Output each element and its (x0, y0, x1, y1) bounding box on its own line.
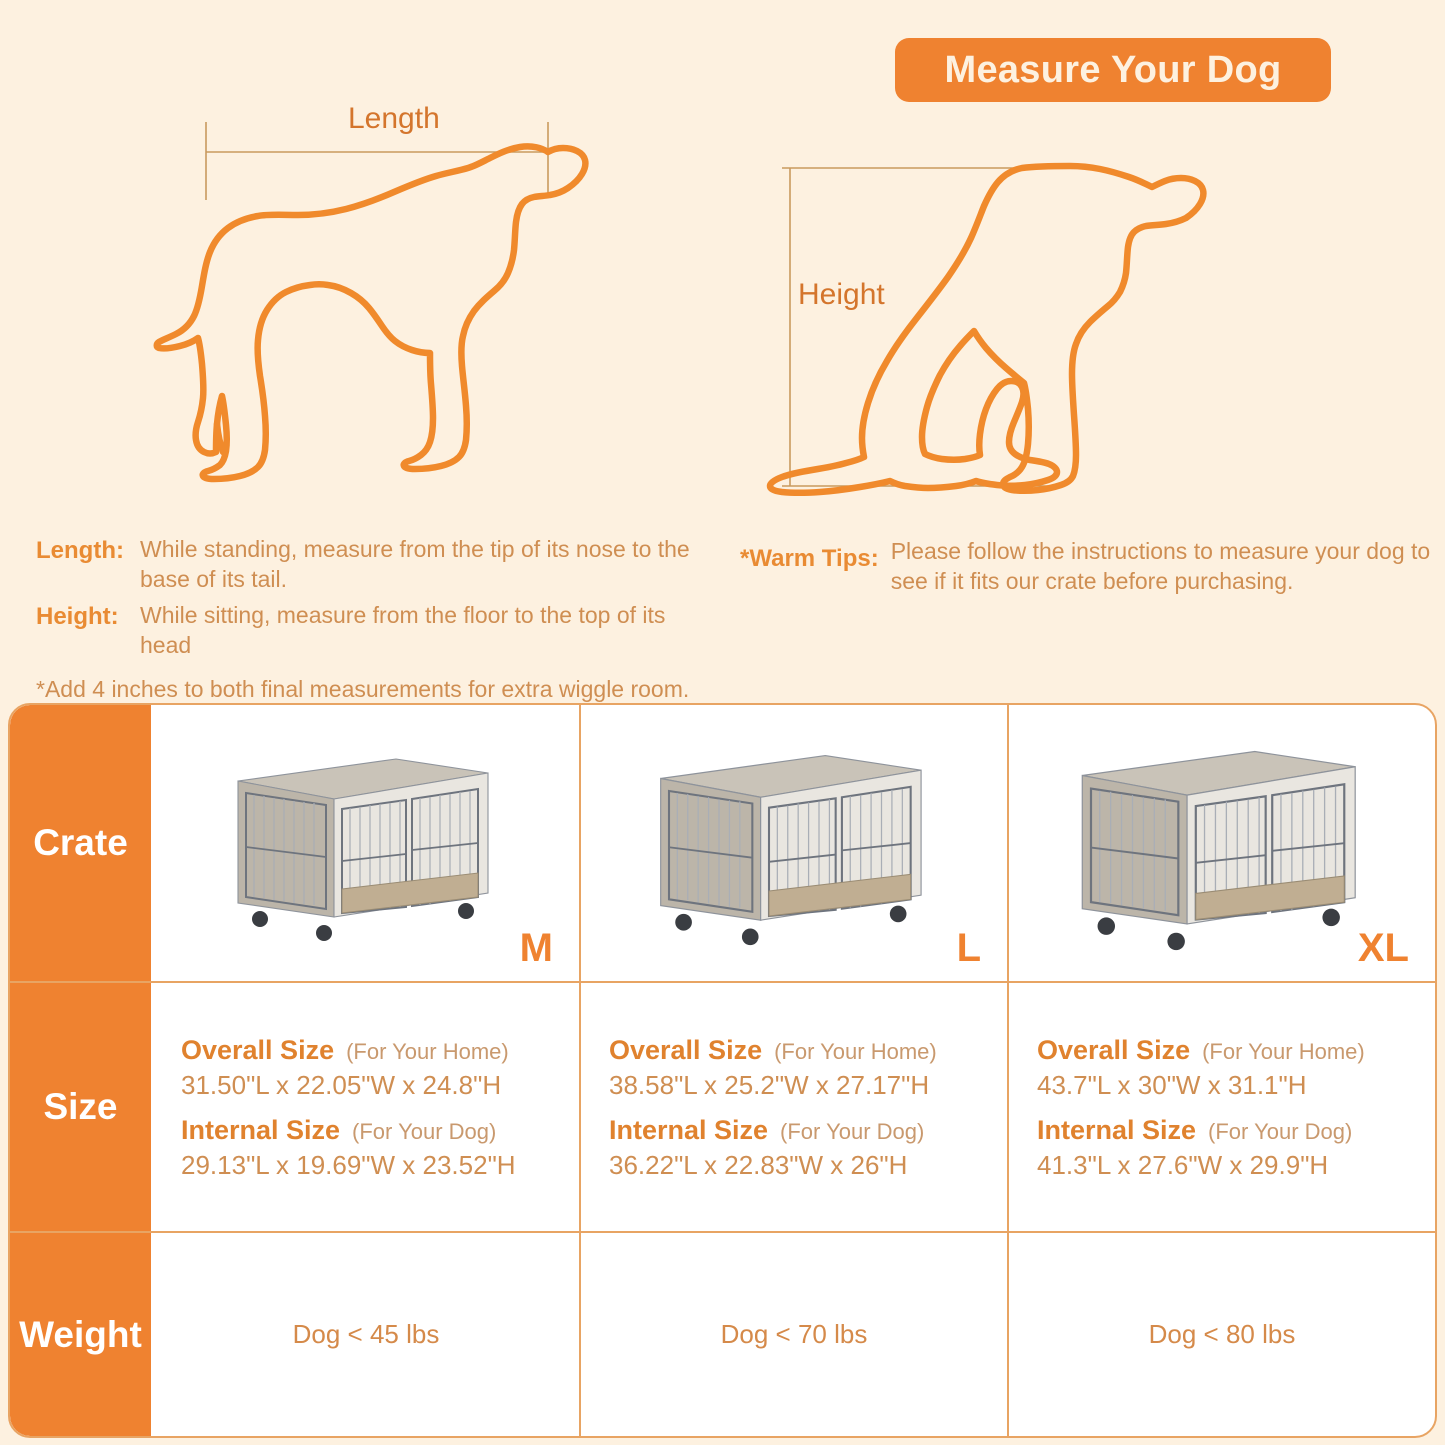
internal-size-sub-m: (For Your Dog) (352, 1119, 496, 1145)
overall-size-sub-xl: (For Your Home) (1202, 1039, 1365, 1065)
internal-size-dims-m: 29.13"L x 19.69"W x 23.52"H (181, 1150, 579, 1181)
sitting-dog-panel: Height (760, 150, 1250, 510)
size-cell-m: Overall Size (For Your Home) 31.50"L x 2… (153, 983, 581, 1231)
length-dimension-label: Length (348, 102, 440, 136)
dog-crate-icon (216, 721, 516, 961)
wiggle-room-note: *Add 4 inches to both final measurements… (36, 675, 716, 705)
weight-value-xl: Dog < 80 lbs (1149, 1319, 1296, 1350)
internal-size-dims-l: 36.22"L x 22.83"W x 26"H (609, 1150, 1007, 1181)
overall-size-heading-l: Overall Size (For Your Home) (609, 1035, 1007, 1066)
height-instruction-row: Height: While sitting, measure from the … (36, 601, 716, 661)
overall-size-dims-m: 31.50"L x 22.05"W x 24.8"H (181, 1070, 579, 1101)
crate-size-tag-m: M (520, 926, 553, 971)
specifications-table: Crate (8, 703, 1437, 1438)
length-instruction-row: Length: While standing, measure from the… (36, 535, 716, 595)
internal-size-sub-xl: (For Your Dog) (1208, 1119, 1352, 1145)
height-instruction-key: Height: (36, 601, 140, 632)
standing-dog-panel: Length (150, 100, 620, 500)
weight-value-m: Dog < 45 lbs (293, 1319, 440, 1350)
sitting-dog-outline-icon (760, 150, 1250, 510)
crate-cell-m: M (153, 705, 581, 981)
overall-size-dims-xl: 43.7"L x 30"W x 31.1"H (1037, 1070, 1435, 1101)
internal-size-heading-m: Internal Size (For Your Dog) (181, 1115, 579, 1146)
internal-size-label-m: Internal Size (181, 1115, 340, 1146)
weight-cell-m: Dog < 45 lbs (153, 1233, 581, 1436)
height-instruction-text: While sitting, measure from the floor to… (140, 601, 716, 661)
length-instruction-key: Length: (36, 535, 140, 566)
height-dimension-label: Height (798, 278, 885, 312)
overall-size-label-l: Overall Size (609, 1035, 762, 1066)
internal-size-heading-xl: Internal Size (For Your Dog) (1037, 1115, 1435, 1146)
weight-cell-l: Dog < 70 lbs (581, 1233, 1009, 1436)
dog-crate-icon (629, 716, 959, 966)
weight-cell-xl: Dog < 80 lbs (1009, 1233, 1435, 1436)
table-row-size: Size Overall Size (For Your Home) 31.50"… (10, 983, 1435, 1233)
dog-crate-icon (1042, 710, 1402, 972)
internal-size-heading-l: Internal Size (For Your Dog) (609, 1115, 1007, 1146)
weight-value-l: Dog < 70 lbs (721, 1319, 868, 1350)
overall-size-heading-m: Overall Size (For Your Home) (181, 1035, 579, 1066)
internal-size-label-l: Internal Size (609, 1115, 768, 1146)
overall-size-label-xl: Overall Size (1037, 1035, 1190, 1066)
crate-product-image-l (629, 716, 959, 971)
overall-size-label-m: Overall Size (181, 1035, 334, 1066)
internal-size-sub-l: (For Your Dog) (780, 1119, 924, 1145)
overall-size-sub-l: (For Your Home) (774, 1039, 937, 1065)
warm-tips: *Warm Tips: Please follow the instructio… (740, 537, 1440, 597)
row-header-weight: Weight (10, 1233, 153, 1436)
length-instruction-text: While standing, measure from the tip of … (140, 535, 716, 595)
crate-size-tag-xl: XL (1358, 926, 1409, 971)
size-cell-l: Overall Size (For Your Home) 38.58"L x 2… (581, 983, 1009, 1231)
warm-tips-key: *Warm Tips: (740, 537, 879, 573)
standing-dog-outline-icon (150, 100, 620, 500)
overall-size-heading-xl: Overall Size (For Your Home) (1037, 1035, 1435, 1066)
overall-size-sub-m: (For Your Home) (346, 1039, 509, 1065)
crate-cell-l: L (581, 705, 1009, 981)
row-header-size: Size (10, 983, 153, 1231)
row-header-crate: Crate (10, 705, 153, 981)
crate-product-image-m (216, 721, 516, 966)
measurement-instructions: Length: While standing, measure from the… (36, 535, 716, 704)
crate-cell-xl: XL (1009, 705, 1435, 981)
crate-size-tag-l: L (957, 926, 981, 971)
dog-illustrations-area: Length Height (0, 0, 1445, 520)
warm-tips-text: Please follow the instructions to measur… (891, 537, 1440, 597)
overall-size-dims-l: 38.58"L x 25.2"W x 27.17"H (609, 1070, 1007, 1101)
size-cell-xl: Overall Size (For Your Home) 43.7"L x 30… (1009, 983, 1435, 1231)
table-row-crate: Crate (10, 705, 1435, 983)
table-row-weight: Weight Dog < 45 lbs Dog < 70 lbs Dog < 8… (10, 1233, 1435, 1436)
internal-size-label-xl: Internal Size (1037, 1115, 1196, 1146)
internal-size-dims-xl: 41.3"L x 27.6"W x 29.9"H (1037, 1150, 1435, 1181)
crate-product-image-xl (1042, 710, 1402, 977)
